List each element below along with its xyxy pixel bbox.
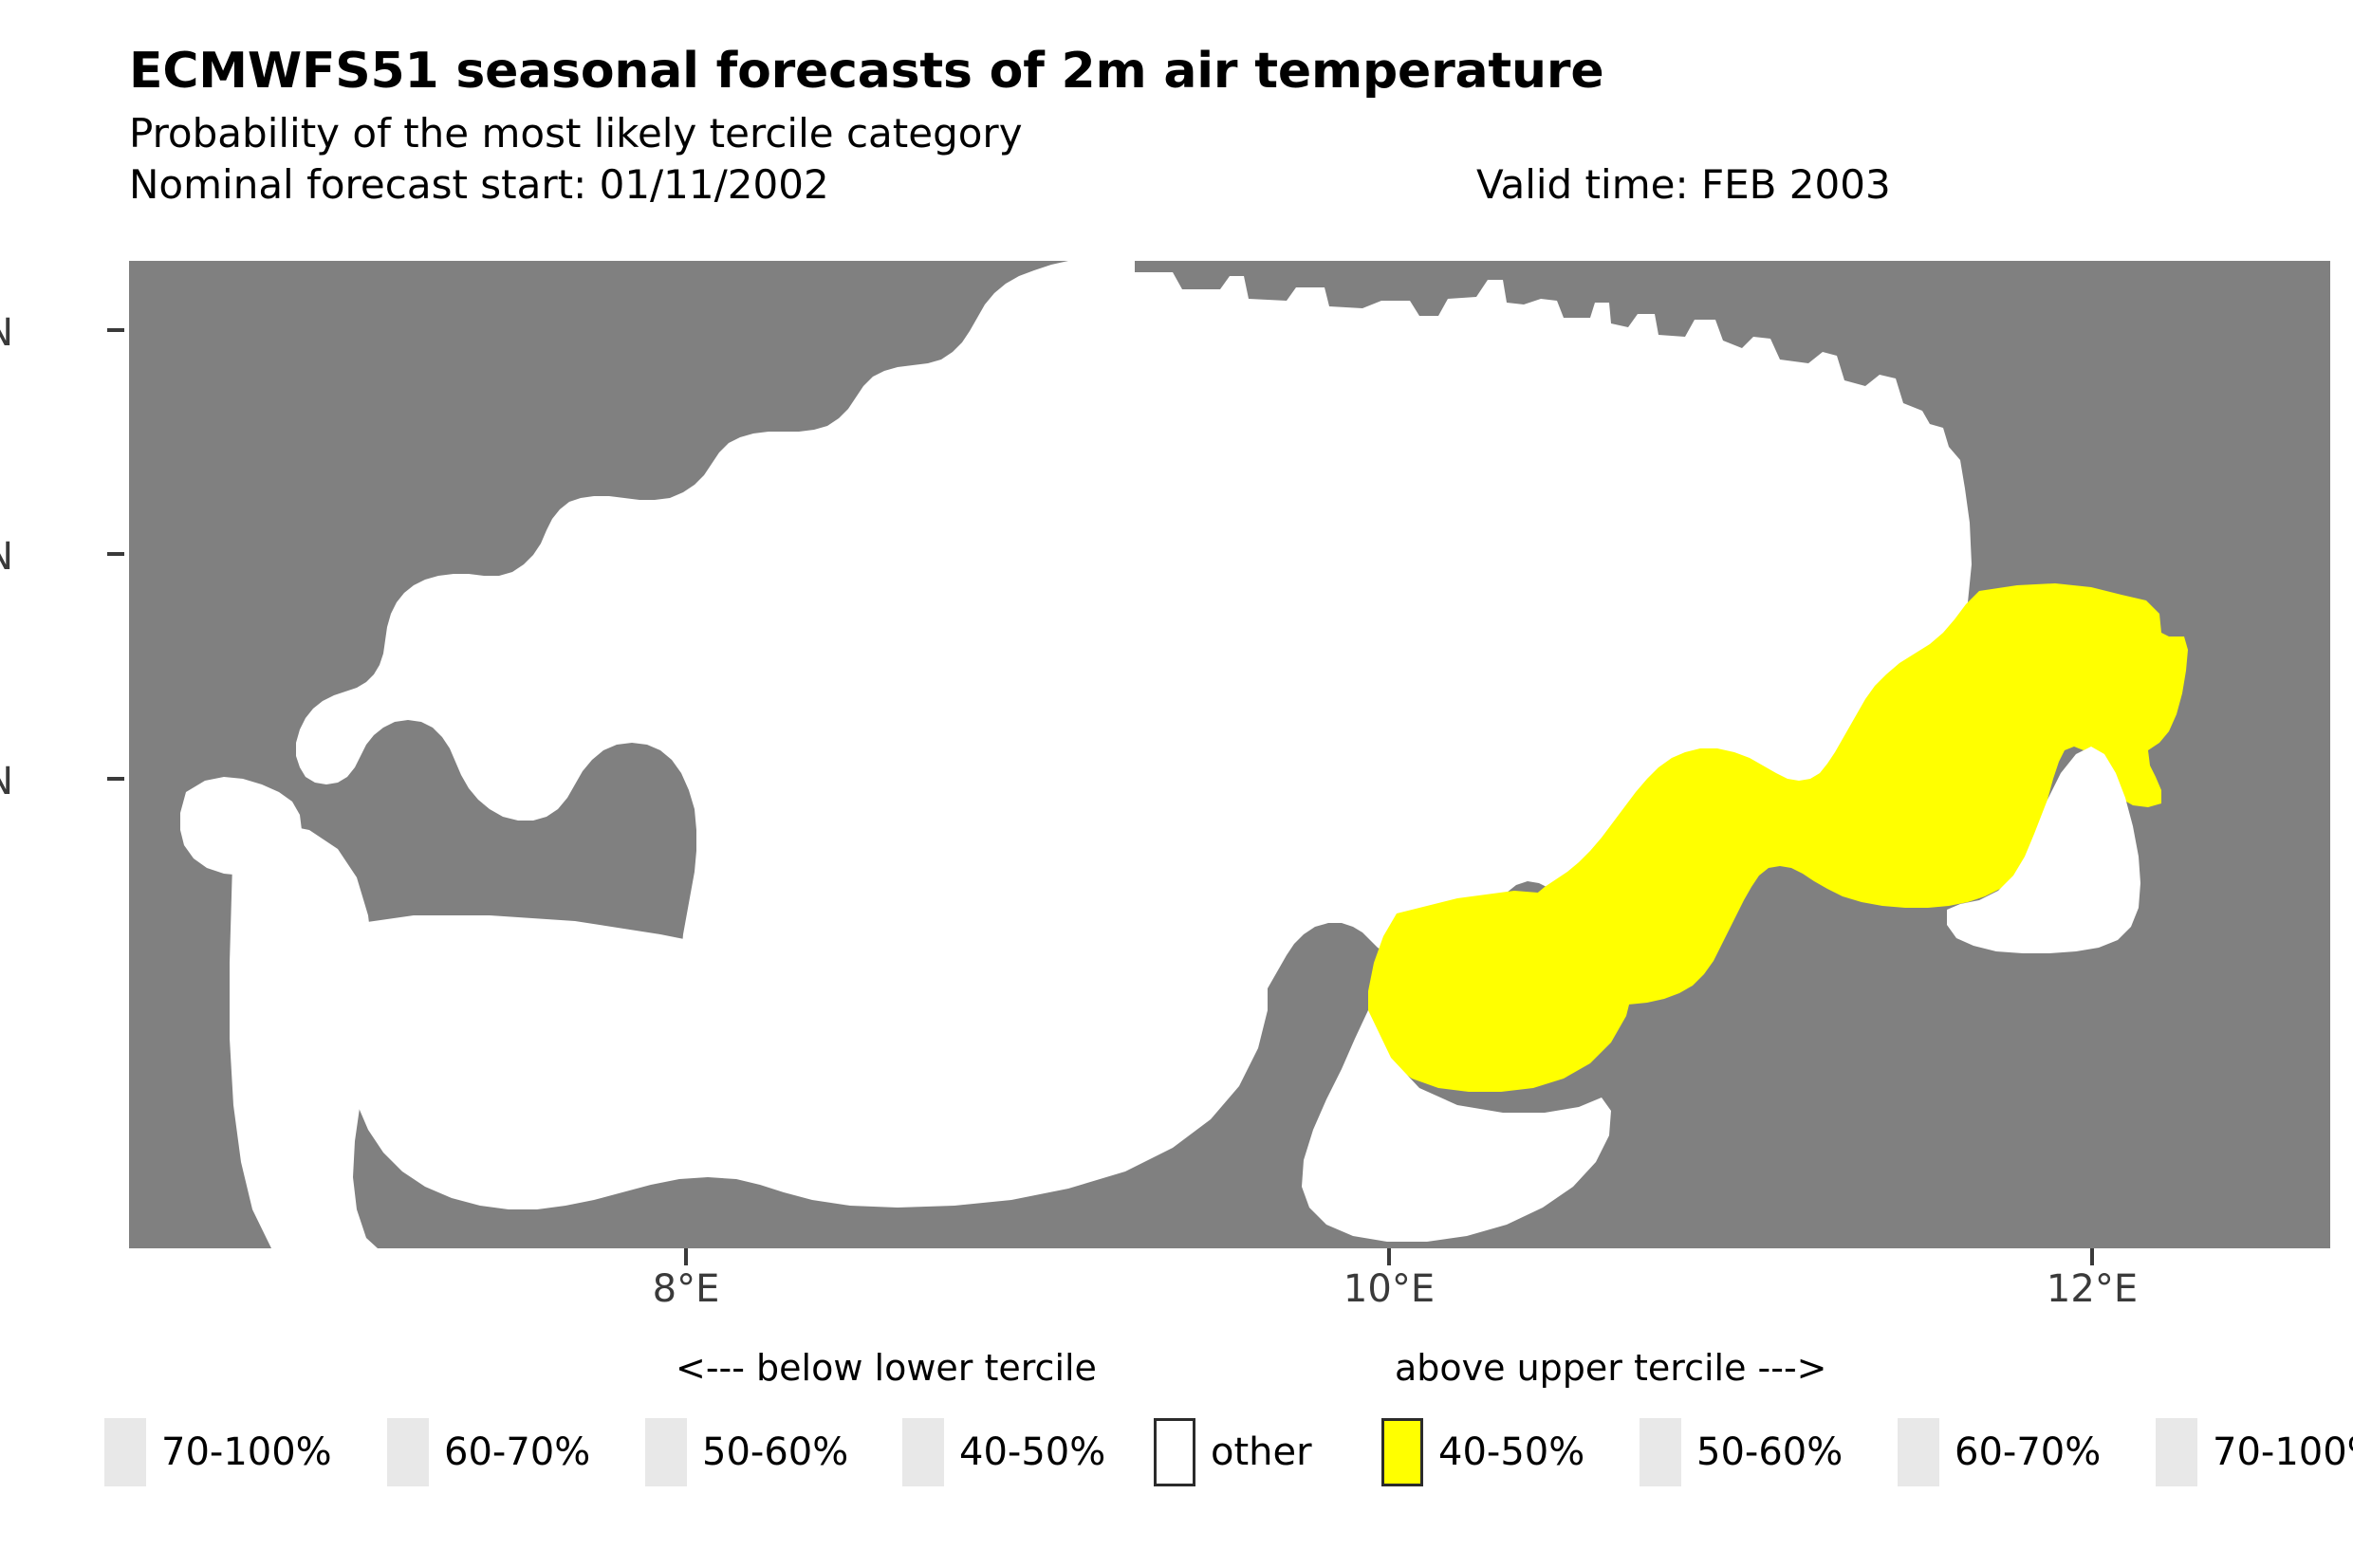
legend-item-above-40-50[interactable]: 40-50%: [1381, 1415, 1584, 1489]
xtick-label-12e: 12°E: [2047, 1267, 2138, 1311]
legend-label-below-40-50: 40-50%: [959, 1430, 1105, 1474]
legend-label-above-60-70: 60-70%: [1955, 1430, 2101, 1474]
legend-below-lower-tercile-label: <--- below lower tercile: [676, 1347, 1097, 1389]
legend-swatch-above-40-50: [1381, 1418, 1423, 1486]
legend-item-below-60-70[interactable]: 60-70%: [387, 1415, 590, 1489]
page-title: ECMWFS51 seasonal forecasts of 2m air te…: [129, 46, 2311, 98]
legend-label-above-70-100: 70-100%: [2213, 1430, 2353, 1474]
legend-item-other[interactable]: other: [1154, 1415, 1312, 1489]
legend-swatch-below-60-70: [387, 1418, 429, 1486]
title-block: ECMWFS51 seasonal forecasts of 2m air te…: [129, 46, 2311, 211]
legend-label-other: other: [1211, 1430, 1312, 1474]
map-svg: [129, 261, 2330, 1248]
meta-row: Nominal forecast start: 01/11/2002 Valid…: [129, 161, 2311, 211]
legend-headers: <--- below lower tercile above upper ter…: [0, 1347, 2353, 1394]
legend-swatch-above-60-70: [1898, 1418, 1939, 1486]
valid-time-label: Valid time: FEB 2003: [1476, 161, 1891, 208]
legend-item-below-70-100[interactable]: 70-100%: [104, 1415, 332, 1489]
legend-item-below-50-60[interactable]: 50-60%: [645, 1415, 848, 1489]
ytick-label-44n: 44°N: [0, 760, 13, 803]
xtick-mark-8e: [684, 1248, 688, 1265]
xtick-label-10e: 10°E: [1343, 1267, 1435, 1311]
map-plot-area: [129, 261, 2330, 1248]
xtick-mark-10e: [1387, 1248, 1391, 1265]
legend-label-below-50-60: 50-60%: [702, 1430, 848, 1474]
legend-swatch-above-50-60: [1640, 1418, 1681, 1486]
xtick-label-8e: 8°E: [653, 1267, 720, 1311]
legend-item-below-40-50[interactable]: 40-50%: [902, 1415, 1105, 1489]
ytick-label-45n: 45°N: [0, 535, 13, 579]
legend-label-below-60-70: 60-70%: [444, 1430, 590, 1474]
legend-label-above-40-50: 40-50%: [1438, 1430, 1584, 1474]
ytick-mark-46n: [107, 328, 124, 332]
legend-swatch-below-50-60: [645, 1418, 687, 1486]
legend-item-above-60-70[interactable]: 60-70%: [1898, 1415, 2101, 1489]
legend-swatch-below-40-50: [902, 1418, 944, 1486]
legend-label-below-70-100: 70-100%: [161, 1430, 332, 1474]
ytick-mark-44n: [107, 777, 124, 781]
legend-swatch-below-70-100: [104, 1418, 146, 1486]
forecast-start-label: Nominal forecast start: 01/11/2002: [129, 161, 829, 208]
page-subtitle: Probability of the most likely tercile c…: [129, 111, 2311, 156]
legend-item-above-70-100[interactable]: 70-100%: [2156, 1415, 2353, 1489]
ytick-mark-45n: [107, 552, 124, 556]
legend-swatch-above-70-100: [2156, 1418, 2197, 1486]
legend-above-upper-tercile-label: above upper tercile --->: [1395, 1347, 1827, 1389]
legend-swatch-other: [1154, 1418, 1195, 1486]
legend-row: 70-100% 60-70% 50-60% 40-50% other 40-50…: [0, 1415, 2353, 1491]
legend-item-above-50-60[interactable]: 50-60%: [1640, 1415, 1843, 1489]
ytick-label-46n: 46°N: [0, 311, 13, 355]
xtick-mark-12e: [2090, 1248, 2094, 1265]
legend-label-above-50-60: 50-60%: [1696, 1430, 1843, 1474]
